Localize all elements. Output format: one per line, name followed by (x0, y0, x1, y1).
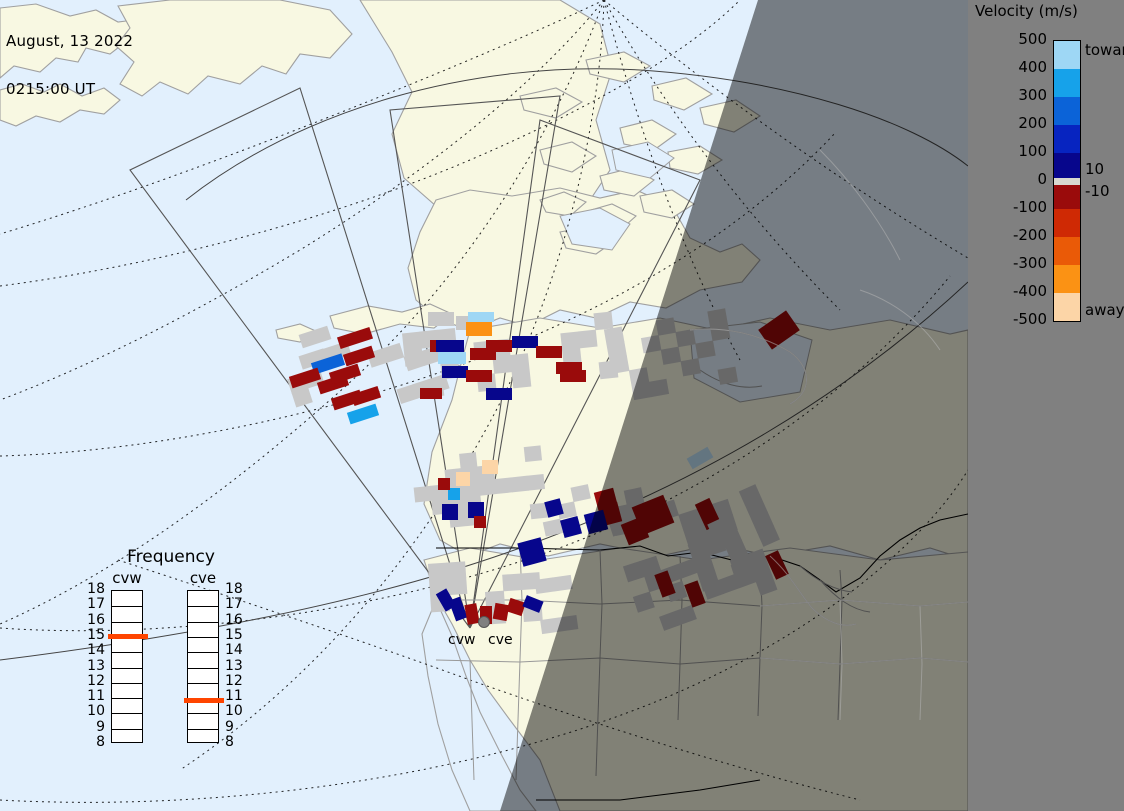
radar-cell (486, 340, 512, 352)
ground-scatter-cell (414, 486, 432, 503)
frequency-tick-label: 15 (225, 630, 247, 640)
radar-cell (436, 340, 464, 352)
colorbar-tick-label: -100 (1001, 201, 1047, 213)
colorbar-tick-label: 500 (1001, 33, 1047, 45)
radar-cell (493, 603, 510, 621)
radar-cell (442, 504, 458, 520)
radar-cell (486, 388, 512, 400)
ground-scatter-cell (560, 331, 580, 350)
frequency-tick-line (112, 683, 142, 684)
colorbar-tick-label: -300 (1001, 257, 1047, 269)
radar-cell (438, 478, 450, 490)
frequency-tick-label: 16 (83, 615, 105, 625)
colorbar-segment (1054, 293, 1080, 321)
frequency-tick-label: 9 (83, 722, 105, 732)
colorbar-segment (1054, 69, 1080, 97)
frequency-tick-label: 10 (83, 706, 105, 716)
frequency-tick-label: 15 (83, 630, 105, 640)
frequency-tick-label: 8 (83, 737, 105, 747)
ground-scatter-cell (604, 327, 624, 345)
radar-cell (468, 312, 494, 322)
colorbar-segment (1054, 97, 1080, 125)
frequency-bar-cvw[interactable] (111, 590, 143, 743)
frequency-tick-line (188, 622, 218, 623)
frequency-tick-label: 9 (225, 722, 247, 732)
colorbar-label-positive-threshold: 10 (1085, 163, 1104, 175)
frequency-legend: Frequency cvw cve 1817161514131211109818… (86, 547, 256, 797)
frequency-tick-line (188, 713, 218, 714)
radar-cell (482, 460, 498, 474)
radar-cell (420, 388, 442, 399)
colorbar-tick-label: 200 (1001, 117, 1047, 129)
frequency-tick-label: 12 (225, 676, 247, 686)
ground-scatter-cell (520, 572, 540, 590)
frequency-tick-line (188, 606, 218, 607)
frequency-tick-line (188, 668, 218, 669)
ground-scatter-cell (511, 476, 529, 493)
ground-scatter-cell (478, 479, 496, 496)
frequency-tick-label: 10 (225, 706, 247, 716)
frequency-tick-line (188, 729, 218, 730)
frequency-tick-line (188, 683, 218, 684)
ground-scatter-cell (578, 330, 598, 349)
colorbar-segment (1054, 209, 1080, 237)
ground-scatter-cell (428, 563, 448, 581)
colorbar-segment (1054, 185, 1080, 210)
frequency-tick-line (112, 713, 142, 714)
frequency-tick-label: 18 (83, 584, 105, 594)
velocity-colorbar[interactable] (1053, 40, 1081, 322)
radar-cell (474, 516, 486, 528)
colorbar-segment (1054, 153, 1080, 178)
colorbar-tick-label: -200 (1001, 229, 1047, 241)
ground-scatter-cell (402, 332, 422, 351)
frequency-marker-cvw (108, 634, 148, 639)
colorbar-label-negative-threshold: -10 (1085, 185, 1110, 197)
colorbar-label-toward: toward (1085, 44, 1124, 56)
radar-cell (428, 312, 454, 326)
radar-cell (438, 352, 466, 364)
frequency-column-label-cvw: cvw (98, 569, 156, 587)
frequency-tick-label: 17 (225, 599, 247, 609)
timestamp-date: August, 13 2022 (6, 33, 133, 49)
colorbar-tick-label: 100 (1001, 145, 1047, 157)
frequency-tick-label: 16 (225, 615, 247, 625)
superdarn-velocity-map: August, 13 2022 0215:00 UT cvw cve Frequ… (0, 0, 1124, 811)
frequency-tick-label: 18 (225, 584, 247, 594)
colorbar-tick-label: 400 (1001, 61, 1047, 73)
frequency-tick-label: 11 (83, 691, 105, 701)
ground-scatter-cell (510, 353, 530, 372)
ground-scatter-cell (447, 577, 467, 595)
frequency-tick-label: 8 (225, 737, 247, 747)
frequency-tick-label: 12 (83, 676, 105, 686)
radar-cell (536, 346, 562, 358)
colorbar-tick-label: -500 (1001, 313, 1047, 325)
frequency-tick-line (112, 698, 142, 699)
colorbar-label-away: away (1085, 304, 1124, 316)
timestamp-time: 0215:00 UT (6, 81, 133, 97)
colorbar-segment (1054, 178, 1080, 185)
ground-scatter-cell (599, 360, 619, 379)
ground-scatter-cell (512, 370, 532, 389)
frequency-tick-label: 17 (83, 599, 105, 609)
frequency-tick-line (112, 606, 142, 607)
site-label-cve: cve (488, 632, 513, 648)
ground-scatter-cell (494, 477, 512, 494)
ground-scatter-cell (459, 452, 477, 469)
frequency-tick-line (188, 637, 218, 638)
frequency-tick-line (112, 668, 142, 669)
frequency-tick-line (188, 652, 218, 653)
radar-cell (512, 336, 538, 348)
frequency-tick-label: 14 (225, 645, 247, 655)
radar-site-marker[interactable] (479, 617, 490, 628)
colorbar-segment (1054, 125, 1080, 153)
colorbar-segment (1054, 41, 1080, 69)
map-panel[interactable]: August, 13 2022 0215:00 UT cvw cve Frequ… (0, 0, 968, 811)
radar-cell (468, 502, 484, 518)
radar-cell (466, 322, 492, 336)
ground-scatter-cell (593, 311, 613, 330)
radar-cell (560, 370, 586, 382)
frequency-marker-cve (184, 698, 224, 703)
site-label-cvw: cvw (448, 632, 475, 648)
frequency-tick-label: 11 (225, 691, 247, 701)
frequency-bar-cve[interactable] (187, 590, 219, 743)
radar-cell (466, 370, 492, 382)
frequency-tick-label: 14 (83, 645, 105, 655)
ground-scatter-cell (552, 575, 572, 592)
colorbar-tick-label: -400 (1001, 285, 1047, 297)
colorbar-segment (1054, 265, 1080, 293)
radar-cell (456, 472, 470, 486)
colorbar-tick-label: 0 (1001, 173, 1047, 185)
frequency-tick-line (112, 652, 142, 653)
colorbar-title: Velocity (m/s) (975, 2, 1078, 20)
ground-scatter-cell (524, 445, 542, 462)
ground-scatter-cell (502, 573, 522, 591)
colorbar-tick-label: 300 (1001, 89, 1047, 101)
frequency-column-label-cve: cve (174, 569, 232, 587)
frequency-tick-line (112, 622, 142, 623)
ground-scatter-cell (446, 561, 466, 579)
colorbar-segment (1054, 237, 1080, 265)
ground-scatter-cell (527, 474, 545, 491)
frequency-tick-label: 13 (83, 661, 105, 671)
frequency-tick-label: 13 (225, 661, 247, 671)
radar-cell (442, 366, 468, 378)
frequency-legend-title: Frequency (86, 547, 256, 567)
timestamp: August, 13 2022 0215:00 UT (6, 1, 133, 129)
frequency-tick-line (112, 729, 142, 730)
